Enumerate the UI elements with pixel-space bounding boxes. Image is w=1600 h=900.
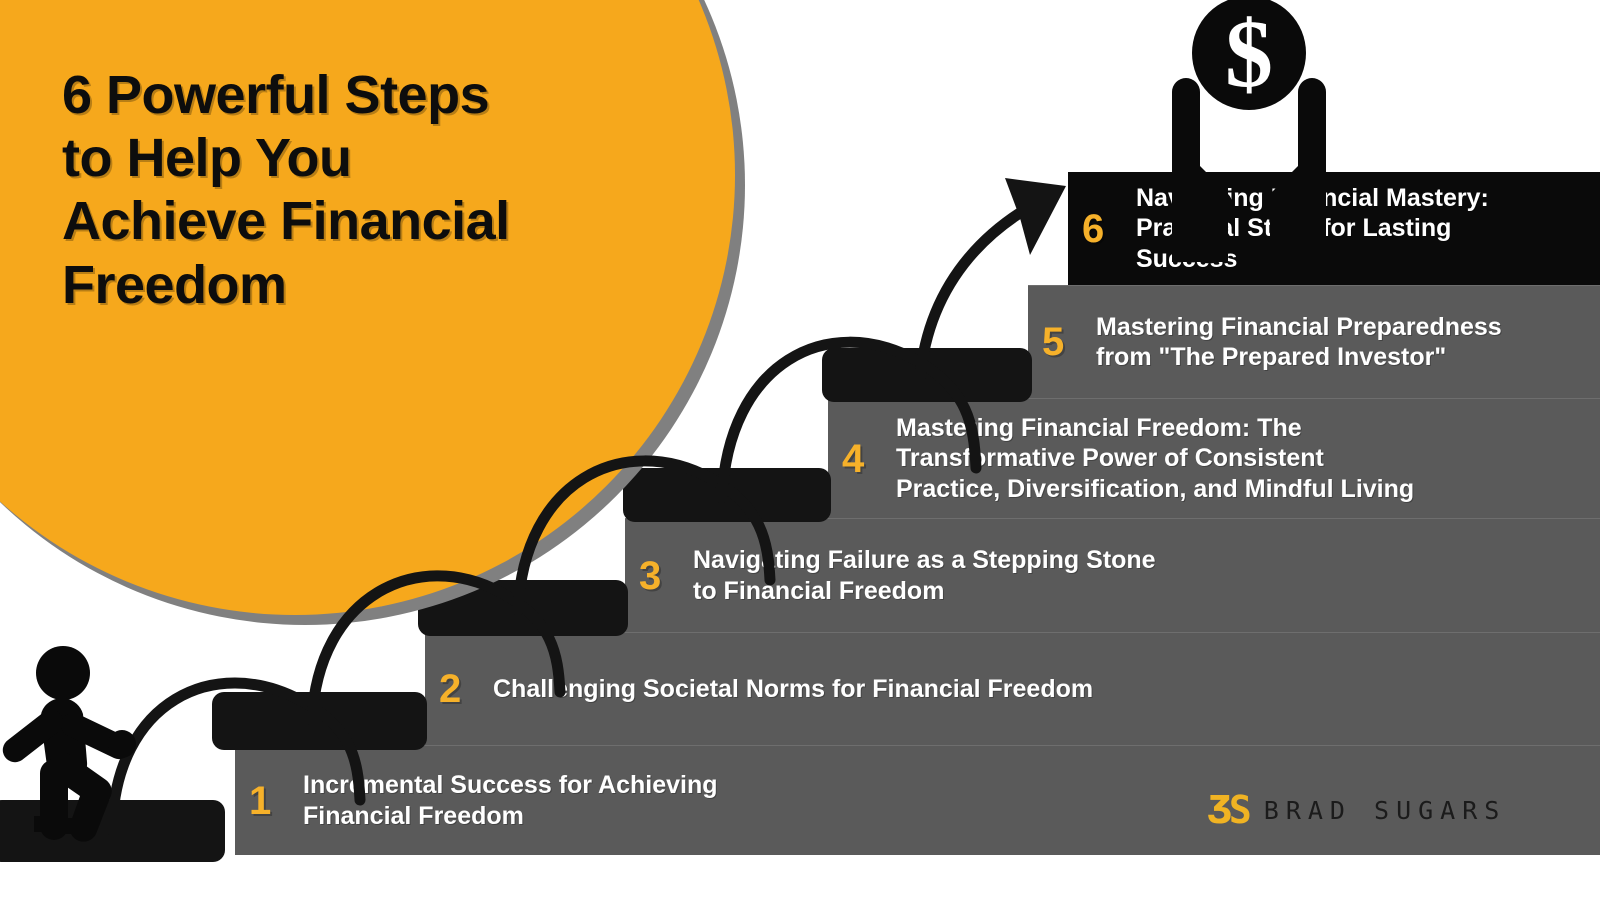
step-number-2: 2	[439, 669, 493, 709]
climber-back-arm	[3, 710, 63, 762]
step-text-2: Challenging Societal Norms for Financial…	[493, 674, 1093, 705]
logo-monogram: ƷS	[1208, 788, 1250, 832]
upward-arrow-icon	[1005, 178, 1066, 255]
step-text-1: Incremental Success for Achieving Financ…	[303, 770, 718, 831]
tread-block-3	[623, 468, 831, 522]
coin-circle	[1192, 0, 1306, 110]
step-number-5: 5	[1042, 322, 1096, 362]
climber-head	[36, 646, 90, 700]
climber-front-arm	[61, 713, 131, 759]
step-number-3: 3	[639, 556, 693, 596]
step-text-4: Mastering Financial Freedom: The Transfo…	[896, 413, 1414, 505]
tread-block-4	[822, 348, 1032, 402]
step-row-3: 3 Navigating Failure as a Stepping Stone…	[625, 518, 1600, 632]
step-row-4: 4 Mastering Financial Freedom: The Trans…	[828, 398, 1600, 518]
page-title: 6 Powerful Steps to Help You Achieve Fin…	[62, 64, 682, 317]
logo-wordmark: BRAD SUGARS	[1264, 796, 1507, 825]
climber-torso	[41, 698, 87, 784]
step-row-5: 5 Mastering Financial Preparedness from …	[1028, 285, 1600, 398]
step-number-6: 6	[1082, 209, 1136, 249]
step-row-2: 2 Challenging Societal Norms for Financi…	[425, 632, 1600, 745]
dollar-sign-glyph: $	[1225, 0, 1273, 107]
step-number-1: 1	[249, 781, 303, 821]
tread-block-1	[212, 692, 427, 750]
step-text-5: Mastering Financial Preparedness from "T…	[1096, 312, 1502, 373]
brad-sugars-logo: ƷS BRAD SUGARS	[1208, 788, 1506, 832]
step-text-6: Navigating Financial Mastery: Practical …	[1136, 183, 1489, 275]
step-number-4: 4	[842, 439, 896, 479]
tread-block-0	[0, 800, 225, 862]
step-text-3: Navigating Failure as a Stepping Stone t…	[693, 545, 1156, 606]
climber-front-hand	[108, 730, 136, 758]
infographic-canvas: 1 Incremental Success for Achieving Fina…	[0, 0, 1600, 900]
step-row-6: 6 Navigating Financial Mastery: Practica…	[1068, 172, 1600, 285]
